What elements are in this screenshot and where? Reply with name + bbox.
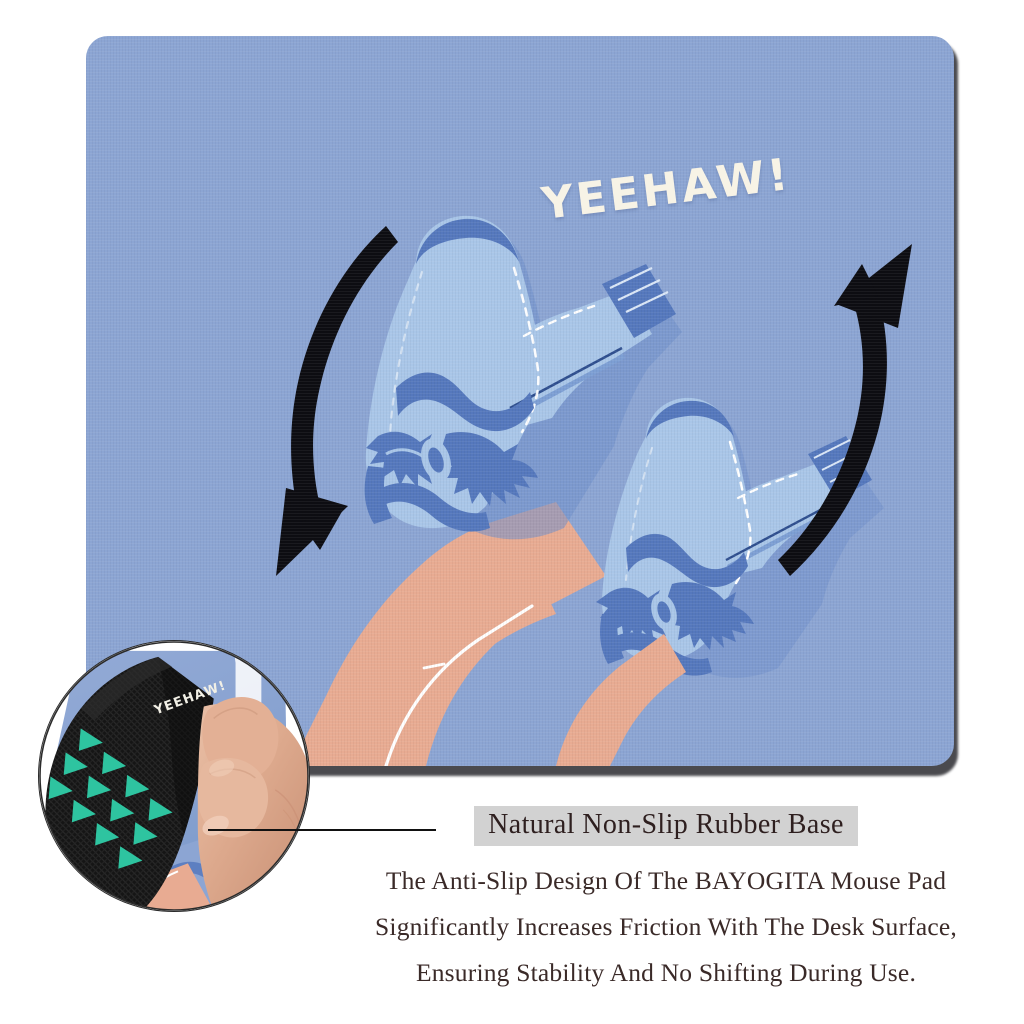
- boot-right: [596, 398, 884, 678]
- feature-description: The Anti-Slip Design Of The BAYOGITA Mou…: [330, 858, 1002, 996]
- inset-artwork: YEEHAW!: [39, 641, 309, 911]
- description-line-3: Ensuring Stability And No Shifting Durin…: [330, 950, 1002, 996]
- feature-headline: Natural Non-Slip Rubber Base: [474, 806, 858, 846]
- feature-text-block: Natural Non-Slip Rubber Base The Anti-Sl…: [330, 806, 1002, 996]
- rubber-base-closeup-inset: YEEHAW!: [38, 640, 310, 912]
- product-feature-image: YEEHAW!: [0, 0, 1024, 1024]
- description-line-2: Significantly Increases Friction With Th…: [330, 904, 1002, 950]
- description-line-1: The Anti-Slip Design Of The BAYOGITA Mou…: [330, 858, 1002, 904]
- headline-row: Natural Non-Slip Rubber Base: [330, 806, 1002, 846]
